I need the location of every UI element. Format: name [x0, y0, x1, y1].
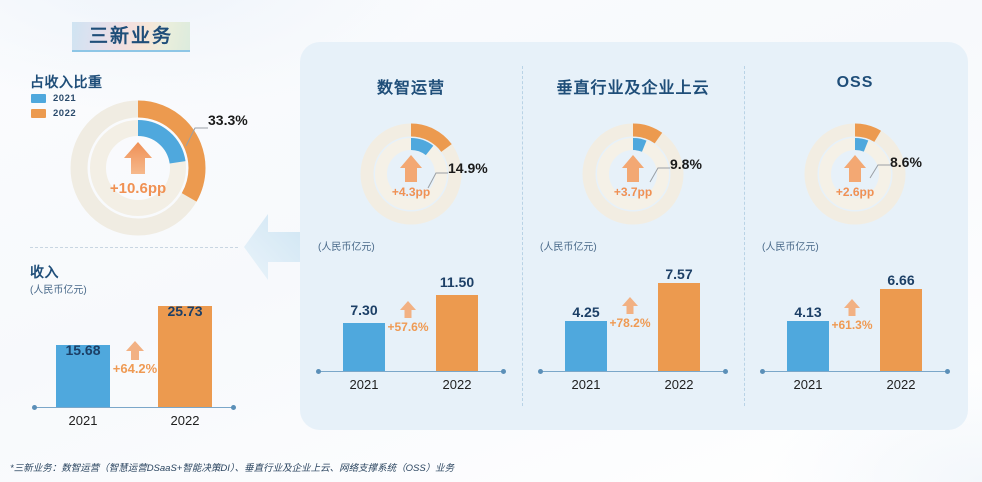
panel-oss: OSS +2.6pp 8.6% (人民币亿元)	[744, 42, 966, 430]
page-title: 三新业务	[89, 27, 173, 46]
bar-value-2022: 11.50	[431, 274, 483, 290]
panel-title: 垂直行业及企业上云	[522, 74, 744, 98]
growth-up-arrow-icon	[124, 340, 146, 360]
bar-2022	[158, 306, 212, 407]
growth-label: +78.2%	[609, 316, 650, 330]
donut-callout-total: 33.3%	[208, 112, 248, 130]
revenue-chart-unit: (人民币亿元)	[30, 281, 87, 296]
donut-center-label: +3.7pp	[614, 185, 652, 199]
x-label-2021: 2021	[343, 377, 385, 392]
revenue-chart-title: 收入	[30, 262, 59, 282]
x-axis	[762, 371, 948, 373]
flow-arrow-left-icon	[244, 214, 306, 290]
bar-value-2021: 7.30	[343, 302, 385, 318]
donut-value-label: 8.6%	[890, 154, 922, 170]
x-label-2021: 2021	[56, 413, 110, 428]
legend-swatch-2022	[31, 109, 46, 118]
up-arrow-icon	[124, 142, 152, 174]
footnote: *三新业务：数智运营（智慧运营DSaaS+智能决策DI）、垂直行业及企业上云、网…	[10, 460, 454, 474]
panel-chart-unit: (人民币亿元)	[540, 238, 597, 253]
donut-callout: 14.9%	[448, 160, 488, 178]
x-label-2021: 2021	[787, 377, 829, 392]
bar-2021	[565, 321, 607, 371]
growth-indicator: +61.3%	[824, 298, 880, 334]
revenue-bar-chart-total: 15.68 25.73 +64.2% 2021 2022	[34, 300, 234, 408]
x-label-2022: 2022	[658, 377, 700, 392]
bar-2021	[343, 323, 385, 371]
business-lines-card: 数智运营 +4.3pp 14.9% (人民币亿元)	[300, 42, 968, 430]
growth-label: +64.2%	[113, 361, 157, 376]
donut-center-label-total: +10.6pp	[110, 180, 166, 197]
bar-value-2022: 7.57	[658, 266, 700, 282]
bar-2021	[787, 321, 829, 371]
up-arrow-icon	[622, 155, 644, 182]
slide-canvas: 三新业务 占收入比重 2021 2022	[0, 0, 982, 482]
panel-bar-chart: 7.30 11.50 +57.6% 2021 2022	[318, 274, 504, 372]
panel-bar-chart: 4.25 7.57 +78.2% 2021 2022	[540, 274, 726, 372]
panel-chart-unit: (人民币亿元)	[762, 238, 819, 253]
x-axis-end-dot	[501, 369, 506, 374]
donut-value-label: 14.9%	[448, 160, 488, 176]
panel-digital-operations: 数智运营 +4.3pp 14.9% (人民币亿元)	[300, 42, 522, 430]
callout-leader-line	[185, 120, 209, 150]
donut-callout: 8.6%	[890, 154, 922, 172]
x-axis-start-dot	[538, 369, 543, 374]
donut-center-label: +4.3pp	[392, 185, 430, 199]
panel-vertical-industry-cloud: 垂直行业及企业上云 +3.7pp 9.8% (人民币亿元)	[522, 42, 744, 430]
panel-donut-chart: +2.6pp	[803, 122, 907, 226]
panel-chart-unit: (人民币亿元)	[318, 238, 375, 253]
up-arrow-icon	[400, 155, 422, 182]
panel-title: OSS	[744, 74, 966, 92]
growth-label: +61.3%	[831, 318, 872, 332]
growth-label: +57.6%	[387, 320, 428, 334]
x-axis	[318, 371, 504, 373]
panel-bar-chart: 4.13 6.66 +61.3% 2021 2022	[762, 274, 948, 372]
bar-value-2021: 15.68	[56, 342, 110, 358]
up-arrow-icon	[844, 155, 866, 182]
callout-leader-line	[649, 162, 671, 188]
x-label-2022: 2022	[436, 377, 478, 392]
growth-up-arrow-icon	[842, 298, 862, 316]
x-label-2022: 2022	[158, 413, 212, 428]
bar-2022	[658, 283, 700, 371]
donut-callout: 9.8%	[670, 156, 702, 174]
panel-title: 数智运营	[300, 74, 522, 98]
x-axis-start-dot	[32, 405, 37, 410]
share-donut-chart-total: +10.6pp	[68, 98, 208, 238]
x-axis-end-dot	[723, 369, 728, 374]
x-axis-start-dot	[316, 369, 321, 374]
x-axis-end-dot	[945, 369, 950, 374]
bar-2022	[436, 295, 478, 371]
section-title-banner: 三新业务	[72, 22, 190, 52]
x-axis-start-dot	[760, 369, 765, 374]
donut-value-label-total: 33.3%	[208, 112, 248, 128]
bar-value-2022: 25.73	[158, 303, 212, 319]
legend-swatch-2021	[31, 94, 46, 103]
callout-leader-line	[427, 166, 449, 192]
x-label-2021: 2021	[565, 377, 607, 392]
growth-up-arrow-icon	[620, 296, 640, 314]
growth-up-arrow-icon	[398, 300, 418, 318]
x-axis	[540, 371, 726, 373]
x-label-2022: 2022	[880, 377, 922, 392]
bar-value-2021: 4.13	[787, 304, 829, 320]
donut-value-label: 9.8%	[670, 156, 702, 172]
section-divider	[30, 247, 238, 248]
bar-value-2021: 4.25	[565, 304, 607, 320]
donut-svg	[68, 98, 208, 238]
growth-indicator: +64.2%	[110, 340, 160, 378]
bar-value-2022: 6.66	[880, 272, 922, 288]
share-chart-title: 占收入比重	[30, 72, 103, 92]
growth-indicator: +78.2%	[602, 296, 658, 332]
donut-center-label: +2.6pp	[836, 185, 874, 199]
callout-leader-line	[869, 160, 891, 186]
growth-indicator: +57.6%	[380, 300, 436, 336]
x-axis	[34, 407, 234, 409]
x-axis-end-dot	[231, 405, 236, 410]
bar-2022	[880, 289, 922, 371]
